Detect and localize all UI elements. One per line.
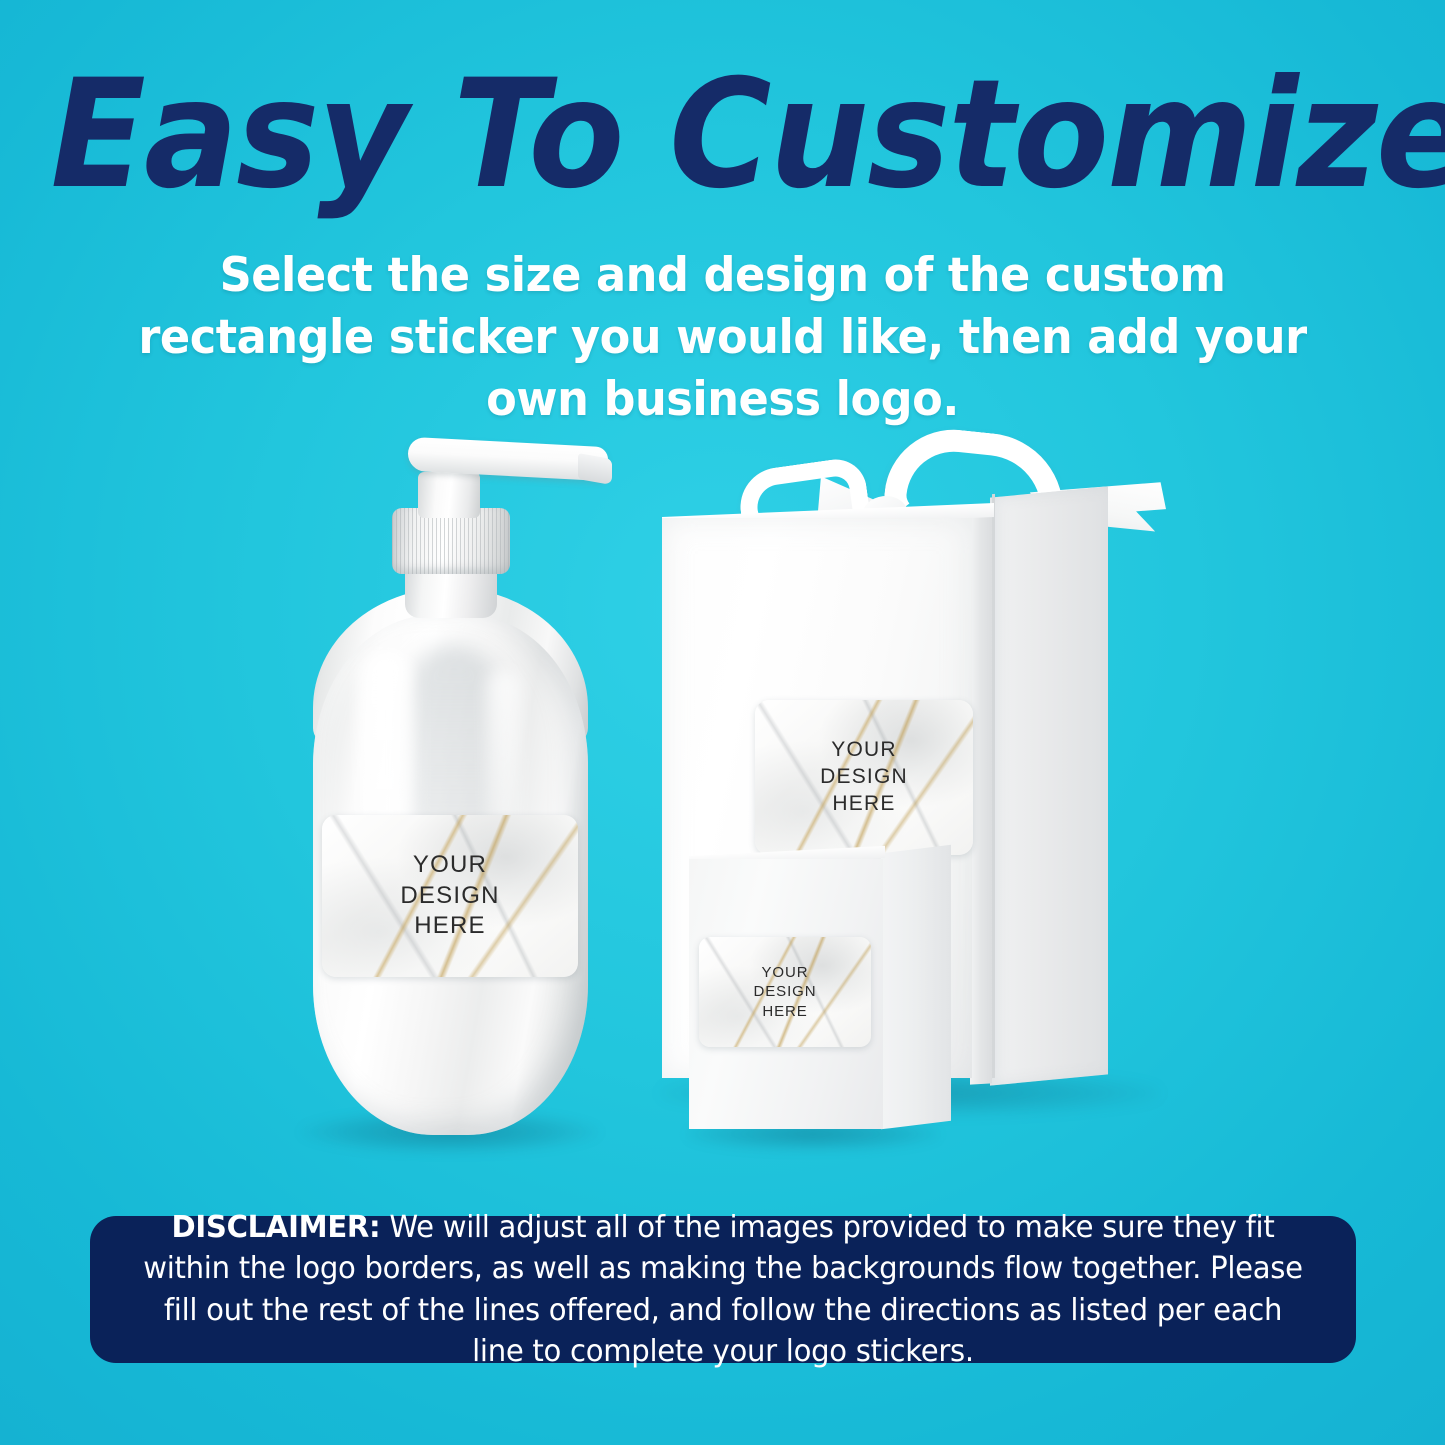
pump-bottle-mockup: YOUR DESIGN HERE: [290, 420, 610, 1180]
disclaimer-banner: DISCLAIMER: We will adjust all of the im…: [90, 1216, 1356, 1363]
promo-banner: Easy To Customize Select the size and de…: [0, 0, 1445, 1445]
pump-stem: [418, 472, 480, 518]
sticker-label-bottle-text: YOUR DESIGN HERE: [400, 850, 499, 942]
sticker-label-giftbox-text: YOUR DESIGN HERE: [820, 737, 908, 818]
sticker-label-smallbox-text: YOUR DESIGN HERE: [754, 963, 817, 1021]
small-box-mockup: YOUR DESIGN HERE: [675, 845, 965, 1145]
gift-box-lid-edge: [970, 511, 992, 1084]
small-box-side-panel: [881, 845, 951, 1130]
page-title: Easy To Customize: [51, 60, 1395, 210]
sticker-label-bottle: YOUR DESIGN HERE: [322, 815, 578, 977]
pump-nozzle-tip: [578, 453, 612, 485]
sticker-label-smallbox: YOUR DESIGN HERE: [699, 937, 871, 1047]
sticker-label-giftbox: YOUR DESIGN HERE: [755, 700, 973, 855]
disclaimer-label: DISCLAIMER:: [172, 1210, 381, 1245]
product-mockup-scene: YOUR DESIGN HERE YOUR DESIGN HERE: [0, 380, 1445, 1200]
gift-box-side-seam: [992, 494, 995, 1078]
disclaimer-text: DISCLAIMER: We will adjust all of the im…: [138, 1207, 1308, 1373]
gift-box-side-panel: [990, 486, 1108, 1085]
